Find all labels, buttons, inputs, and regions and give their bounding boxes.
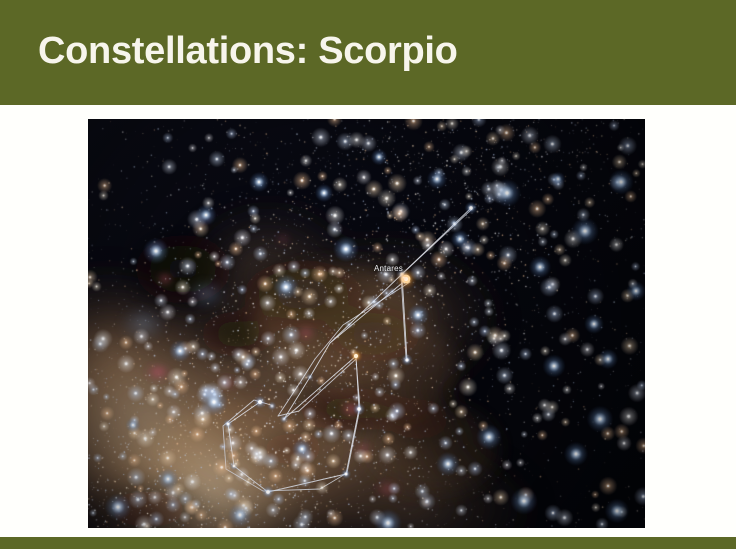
title-bar: Constellations: Scorpio	[0, 0, 736, 105]
page-title: Constellations: Scorpio	[38, 28, 458, 74]
night-sky-image	[88, 119, 645, 528]
body-star-gold	[349, 349, 363, 363]
antares-label: Antares	[374, 264, 403, 273]
footer-bar	[0, 537, 736, 549]
constellation-photo: Antares	[88, 119, 645, 528]
slide-canvas: Constellations: Scorpio	[0, 0, 736, 549]
body-star-blue	[353, 403, 366, 416]
